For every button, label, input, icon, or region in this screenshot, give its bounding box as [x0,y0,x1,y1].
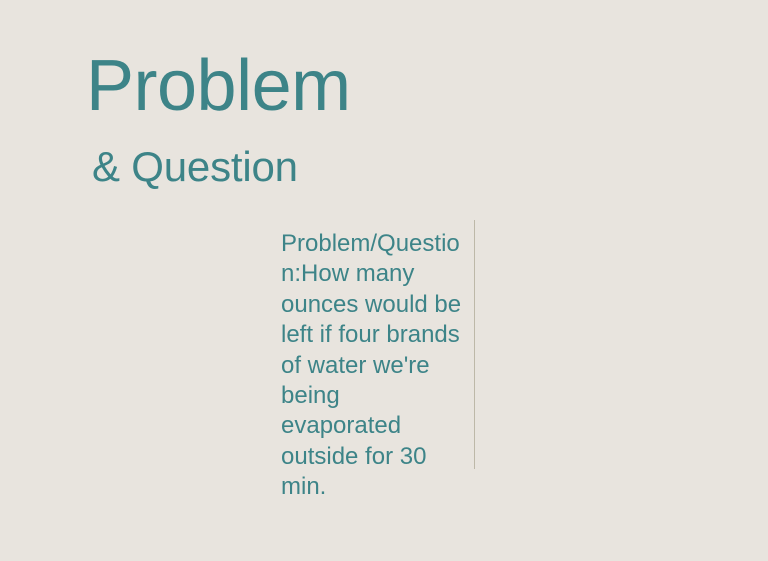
title-block: Problem & Question [86,50,686,190]
body-text-block: Problem/Question:How many ounces would b… [281,229,465,503]
page-subtitle: & Question [86,123,686,189]
problem-question-text: Problem/Question:How many ounces would b… [281,229,465,503]
slide-canvas: Problem & Question Problem/Question:How … [0,0,768,561]
vertical-divider [474,220,475,469]
page-title: Problem [86,50,686,123]
